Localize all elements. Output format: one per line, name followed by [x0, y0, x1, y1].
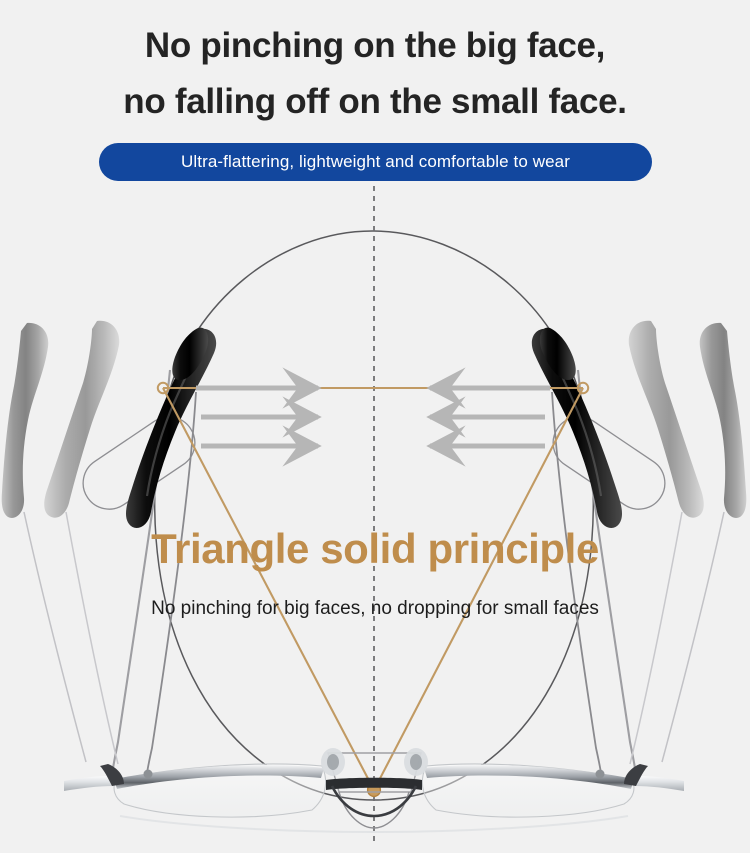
illustration-title: Triangle solid principle: [0, 524, 750, 574]
infographic-page: No pinching on the big face, no falling …: [0, 0, 750, 853]
ghost-temple-tip-icon: [2, 321, 120, 518]
glasses-fit-illustration: [0, 0, 750, 853]
illustration-subtitle: No pinching for big faces, no dropping f…: [0, 596, 750, 622]
inward-arrow-icon: [196, 388, 550, 446]
rim-bead-icon: [596, 770, 605, 779]
ghost-temple-tip-icon: [629, 321, 747, 518]
rim-bead-icon: [144, 770, 153, 779]
